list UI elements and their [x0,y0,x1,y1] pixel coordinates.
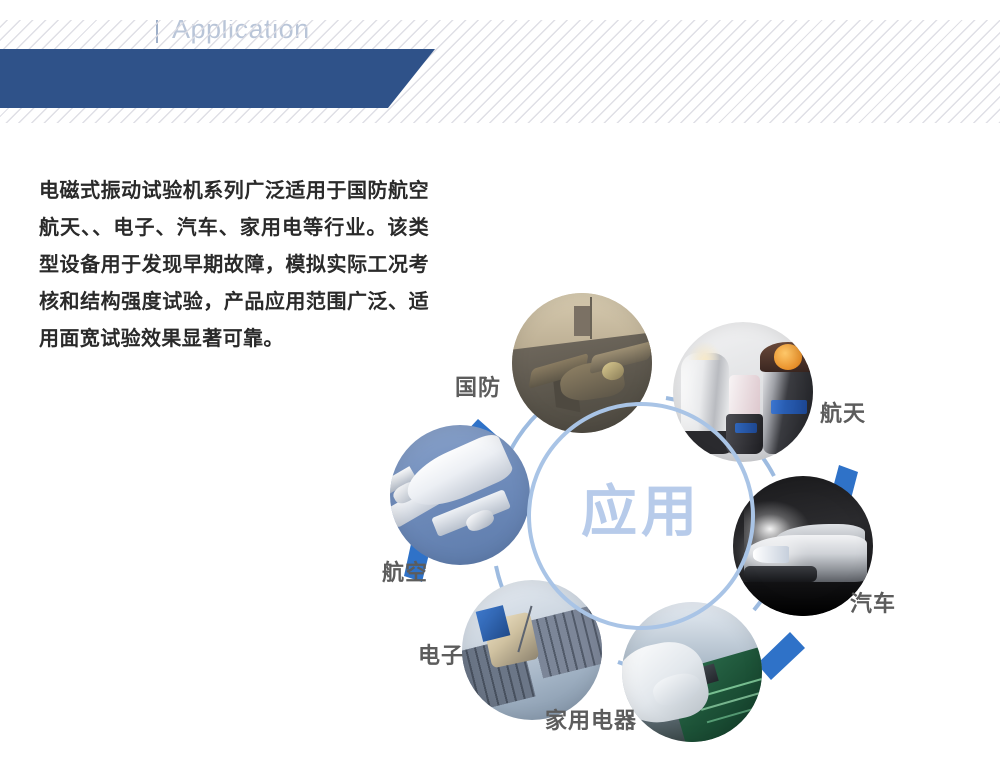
application-description: 电磁式振动试验机系列广泛适用于国防航空航天、、电子、汽车、家用电等行业。该类型设… [39,172,429,357]
center-label: 应用 [527,485,755,541]
node-label-electronics: 电子 [418,638,464,670]
node-circle-aviation[interactable] [390,425,530,565]
section-header-banner [0,49,435,108]
node-label-home-appliance: 家用电器 [545,703,637,735]
node-label-aerospace: 航天 [820,396,866,428]
stripe-top-mask [0,0,1000,20]
application-industry-diagram: 应用 国防 航天 汽车 [350,280,970,770]
node-label-aviation: 航空 [382,555,428,587]
node-label-automotive: 汽车 [850,586,896,618]
node-label-defense: 国防 [455,370,501,402]
arc-segment-se [757,632,805,680]
